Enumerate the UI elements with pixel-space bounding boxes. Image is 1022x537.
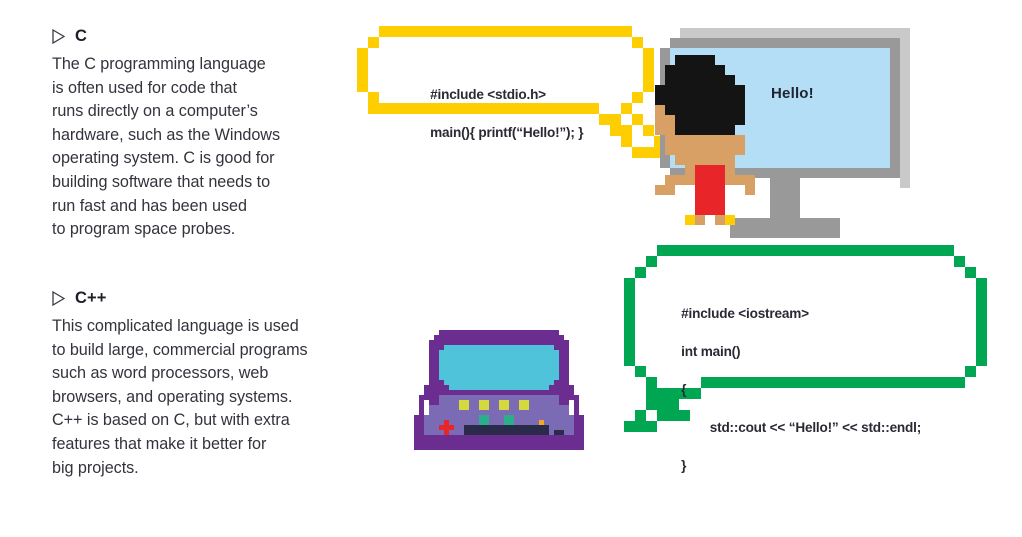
- bubble-pixel: [954, 256, 965, 267]
- bubble-pixel: [624, 421, 635, 432]
- bubble-pixel: [632, 37, 643, 48]
- character-pixel: [725, 175, 755, 185]
- bubble-pixel: [624, 278, 635, 366]
- body-line: such as word processors, web: [52, 362, 372, 386]
- character-pixel: [665, 145, 675, 155]
- character-pixel: [655, 95, 745, 105]
- console-pixel: [459, 400, 469, 410]
- character-pixel: [655, 115, 665, 135]
- body-line: is often used for code that: [52, 77, 372, 101]
- console-pixel: [444, 430, 449, 435]
- section-c-body: The C programming language is often used…: [52, 53, 372, 242]
- console-pixel: [554, 430, 564, 435]
- character-pixel: [715, 215, 725, 225]
- console-pixel: [449, 385, 549, 390]
- body-line: hardware, such as the Windows: [52, 124, 372, 148]
- console-pixel: [554, 350, 559, 380]
- character-pixel: [695, 215, 705, 225]
- character-pixel: [725, 215, 735, 225]
- section-cpp-body: This complicated language is used to bui…: [52, 315, 372, 480]
- console-pixel: [429, 405, 439, 435]
- console-pixel: [479, 415, 489, 425]
- console-pixel: [414, 440, 584, 450]
- bubble-pixel: [635, 410, 646, 421]
- bubble-pixel: [368, 103, 379, 114]
- body-line: run fast and has been used: [52, 195, 372, 219]
- bubble-pixel: [646, 256, 657, 267]
- code-line: }: [681, 458, 686, 473]
- bubble-pixel: [368, 37, 379, 48]
- character-pixel: [665, 175, 695, 185]
- bubble-pixel: [635, 267, 646, 278]
- character-pixel: [665, 135, 745, 145]
- handheld-console: [414, 330, 584, 490]
- character-pixel: [665, 105, 745, 115]
- bubble-pixel: [965, 267, 976, 278]
- monitor-screen-text: Hello!: [771, 85, 814, 102]
- bubble-pixel: [632, 92, 643, 103]
- code-line: {: [681, 382, 686, 397]
- bubble-pixel: [976, 278, 987, 366]
- code-line: int main(): [681, 344, 740, 359]
- character-pixel: [665, 115, 675, 125]
- bubble-pixel: [357, 48, 368, 92]
- triangle-right-icon: [52, 29, 64, 43]
- console-pixel: [519, 400, 529, 410]
- character-pixel: [695, 165, 725, 205]
- code-snippet-cpp: #include <iostream> int main() { std::co…: [674, 285, 921, 475]
- body-line: features that make it better for: [52, 433, 372, 457]
- bubble-pixel: [954, 377, 965, 388]
- character-pixel: [675, 155, 735, 165]
- character-pixel: [665, 125, 675, 135]
- section-cpp-heading: C++: [52, 288, 372, 308]
- bubble-pixel: [643, 125, 654, 136]
- body-line: C++ is based on C, but with extra: [52, 409, 372, 433]
- code-line: #include <stdio.h>: [430, 87, 546, 102]
- body-line: building software that needs to: [52, 171, 372, 195]
- console-pixel: [464, 425, 549, 435]
- body-line: browsers, and operating systems.: [52, 386, 372, 410]
- console-pixel: [479, 400, 489, 410]
- body-line: to build large, commercial programs: [52, 339, 372, 363]
- monitor-pixel: [890, 48, 900, 168]
- console-pixel: [429, 345, 439, 395]
- console-pixel: [504, 415, 514, 425]
- monitor-pixel: [680, 28, 910, 38]
- bubble-pixel: [621, 103, 632, 114]
- character-pixel: [655, 185, 675, 195]
- character-pixel: [665, 65, 725, 75]
- bubble-pixel: [599, 114, 621, 125]
- character-pixel: [655, 105, 665, 115]
- code-snippet-c: #include <stdio.h> main(){ printf(“Hello…: [423, 66, 583, 142]
- section-cpp: C++ This complicated language is used to…: [52, 288, 372, 480]
- bubble-pixel: [621, 136, 632, 147]
- bubble-pixel: [643, 48, 654, 92]
- monitor-pixel: [670, 38, 900, 48]
- character-pixel: [695, 205, 725, 215]
- bubble-pixel: [632, 114, 643, 125]
- language-title-cpp: C++: [75, 289, 107, 308]
- console-pixel: [424, 415, 429, 435]
- character-pixel: [675, 55, 715, 65]
- bubble-pixel: [379, 26, 632, 37]
- bubble-pixel: [965, 366, 976, 377]
- monitor-pixel: [900, 38, 910, 188]
- code-line: std::cout << “Hello!” << std::endl;: [681, 420, 921, 435]
- pixel-character: [655, 55, 775, 225]
- character-pixel: [675, 145, 745, 155]
- bubble-pixel: [635, 366, 646, 377]
- bubble-pixel: [657, 245, 954, 256]
- console-pixel: [444, 345, 554, 385]
- code-line: #include <iostream>: [681, 306, 809, 321]
- console-pixel: [559, 345, 569, 395]
- console-pixel: [569, 415, 574, 435]
- console-pixel: [499, 400, 509, 410]
- code-line: main(){ printf(“Hello!”); }: [430, 125, 583, 140]
- character-pixel: [745, 185, 755, 195]
- bubble-pixel: [646, 377, 657, 388]
- bubble-pixel: [368, 92, 379, 103]
- section-c-heading: C: [52, 26, 372, 46]
- body-line: runs directly on a computer’s: [52, 100, 372, 124]
- triangle-right-icon: [52, 291, 64, 305]
- bubble-pixel: [610, 125, 632, 136]
- language-title-c: C: [75, 27, 87, 46]
- character-pixel: [655, 85, 745, 95]
- body-line: This complicated language is used: [52, 315, 372, 339]
- body-line: operating system. C is good for: [52, 147, 372, 171]
- character-pixel: [675, 115, 745, 125]
- bubble-pixel: [635, 421, 657, 432]
- character-pixel: [665, 75, 735, 85]
- character-pixel: [685, 215, 695, 225]
- console-pixel: [439, 350, 444, 380]
- body-line: big projects.: [52, 457, 372, 481]
- bubble-pixel: [646, 399, 668, 410]
- body-line: to program space probes.: [52, 218, 372, 242]
- body-line: The C programming language: [52, 53, 372, 77]
- bubble-pixel: [646, 388, 657, 399]
- character-pixel: [675, 125, 735, 135]
- section-c: C The C programming language is often us…: [52, 26, 372, 242]
